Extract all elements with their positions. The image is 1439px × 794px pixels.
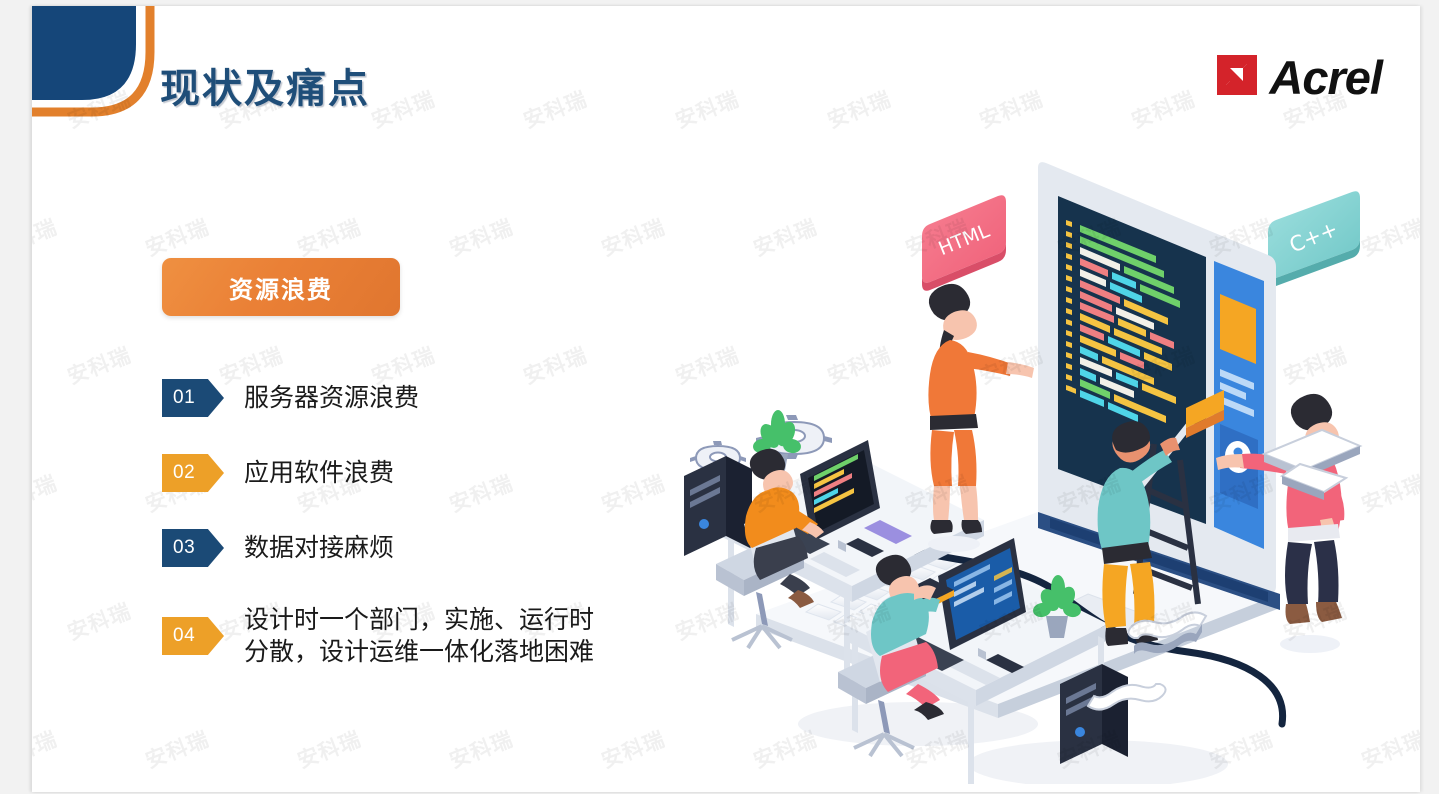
watermark-text: 安科瑞 [293, 723, 365, 775]
watermark-text: 安科瑞 [367, 83, 439, 135]
pain-point-text: 应用软件浪费 [244, 457, 394, 489]
brand-logo: Acrel [1214, 50, 1382, 105]
watermark-text: 安科瑞 [32, 211, 61, 263]
pain-point-text: 服务器资源浪费 [244, 382, 419, 414]
paper-plane-icon [1264, 430, 1360, 500]
watermark-text: 安科瑞 [32, 467, 61, 519]
pain-point-row[interactable]: 04设计时一个部门，实施、运行时分散，设计运维一体化落地困难 [162, 604, 682, 668]
tag-cpp: C++ [1268, 191, 1360, 287]
pain-point-number: 04 [173, 625, 195, 647]
watermark-text: 安科瑞 [63, 339, 135, 391]
watermark-text: 安科瑞 [1357, 6, 1420, 7]
watermark-text: 安科瑞 [749, 6, 821, 7]
pain-point-row[interactable]: 01服务器资源浪费 [162, 379, 682, 417]
pain-point-number: 03 [173, 537, 195, 559]
pain-point-text: 数据对接麻烦 [244, 532, 394, 564]
pain-point-badge-02: 02 [162, 454, 224, 492]
illustration-isometric-developers: HTML C++ [668, 124, 1420, 784]
callout-label: 资源浪费 [229, 270, 333, 305]
watermark-text: 安科瑞 [63, 595, 135, 647]
pain-point-list: 01服务器资源浪费02应用软件浪费03数据对接麻烦04设计时一个部门，实施、运行… [162, 379, 682, 668]
person-woman-pointing [928, 284, 1034, 552]
watermark-text: 安科瑞 [141, 723, 213, 775]
watermark-text: 安科瑞 [1205, 6, 1277, 7]
watermark-text: 安科瑞 [293, 211, 365, 263]
pain-point-text-line1: 应用软件浪费 [244, 457, 394, 489]
pain-point-text-line1: 数据对接麻烦 [244, 532, 394, 564]
watermark-text: 安科瑞 [445, 211, 517, 263]
pain-point-row[interactable]: 02应用软件浪费 [162, 454, 682, 492]
watermark-text: 安科瑞 [32, 723, 61, 775]
pain-point-badge-04: 04 [162, 617, 224, 655]
pain-point-row[interactable]: 03数据对接麻烦 [162, 529, 682, 567]
watermark-text: 安科瑞 [141, 211, 213, 263]
pain-point-badge-01: 01 [162, 379, 224, 417]
watermark-text: 安科瑞 [445, 6, 517, 7]
tag-html: HTML [922, 195, 1006, 291]
page-title: 现状及痛点 [160, 56, 370, 114]
pain-point-number: 01 [173, 387, 195, 409]
watermark-text: 安科瑞 [597, 723, 669, 775]
watermark-text: 安科瑞 [445, 723, 517, 775]
acrel-square-icon [1214, 52, 1260, 103]
pain-point-text-line1: 服务器资源浪费 [244, 382, 419, 414]
slide-stage: 安科瑞安科瑞安科瑞安科瑞安科瑞安科瑞安科瑞安科瑞安科瑞安科瑞安科瑞安科瑞安科瑞安… [0, 0, 1439, 794]
callout-badge[interactable]: 资源浪费 [162, 258, 400, 316]
slide-canvas: 安科瑞安科瑞安科瑞安科瑞安科瑞安科瑞安科瑞安科瑞安科瑞安科瑞安科瑞安科瑞安科瑞安… [32, 6, 1420, 792]
watermark-text: 安科瑞 [519, 83, 591, 135]
pain-point-number: 02 [173, 462, 195, 484]
watermark-text: 安科瑞 [901, 6, 973, 7]
brand-name: Acrel [1269, 50, 1382, 105]
corner-fill-shape [32, 6, 136, 100]
pain-point-text-line2: 分散，设计运维一体化落地困难 [244, 636, 594, 668]
watermark-text: 安科瑞 [597, 211, 669, 263]
watermark-text: 安科瑞 [1053, 6, 1125, 7]
pain-point-badge-03: 03 [162, 529, 224, 567]
pain-point-text-line1: 设计时一个部门，实施、运行时 [244, 604, 594, 636]
watermark-text: 安科瑞 [293, 6, 365, 7]
pain-point-text: 设计时一个部门，实施、运行时分散，设计运维一体化落地困难 [244, 604, 594, 668]
watermark-text: 安科瑞 [597, 6, 669, 7]
